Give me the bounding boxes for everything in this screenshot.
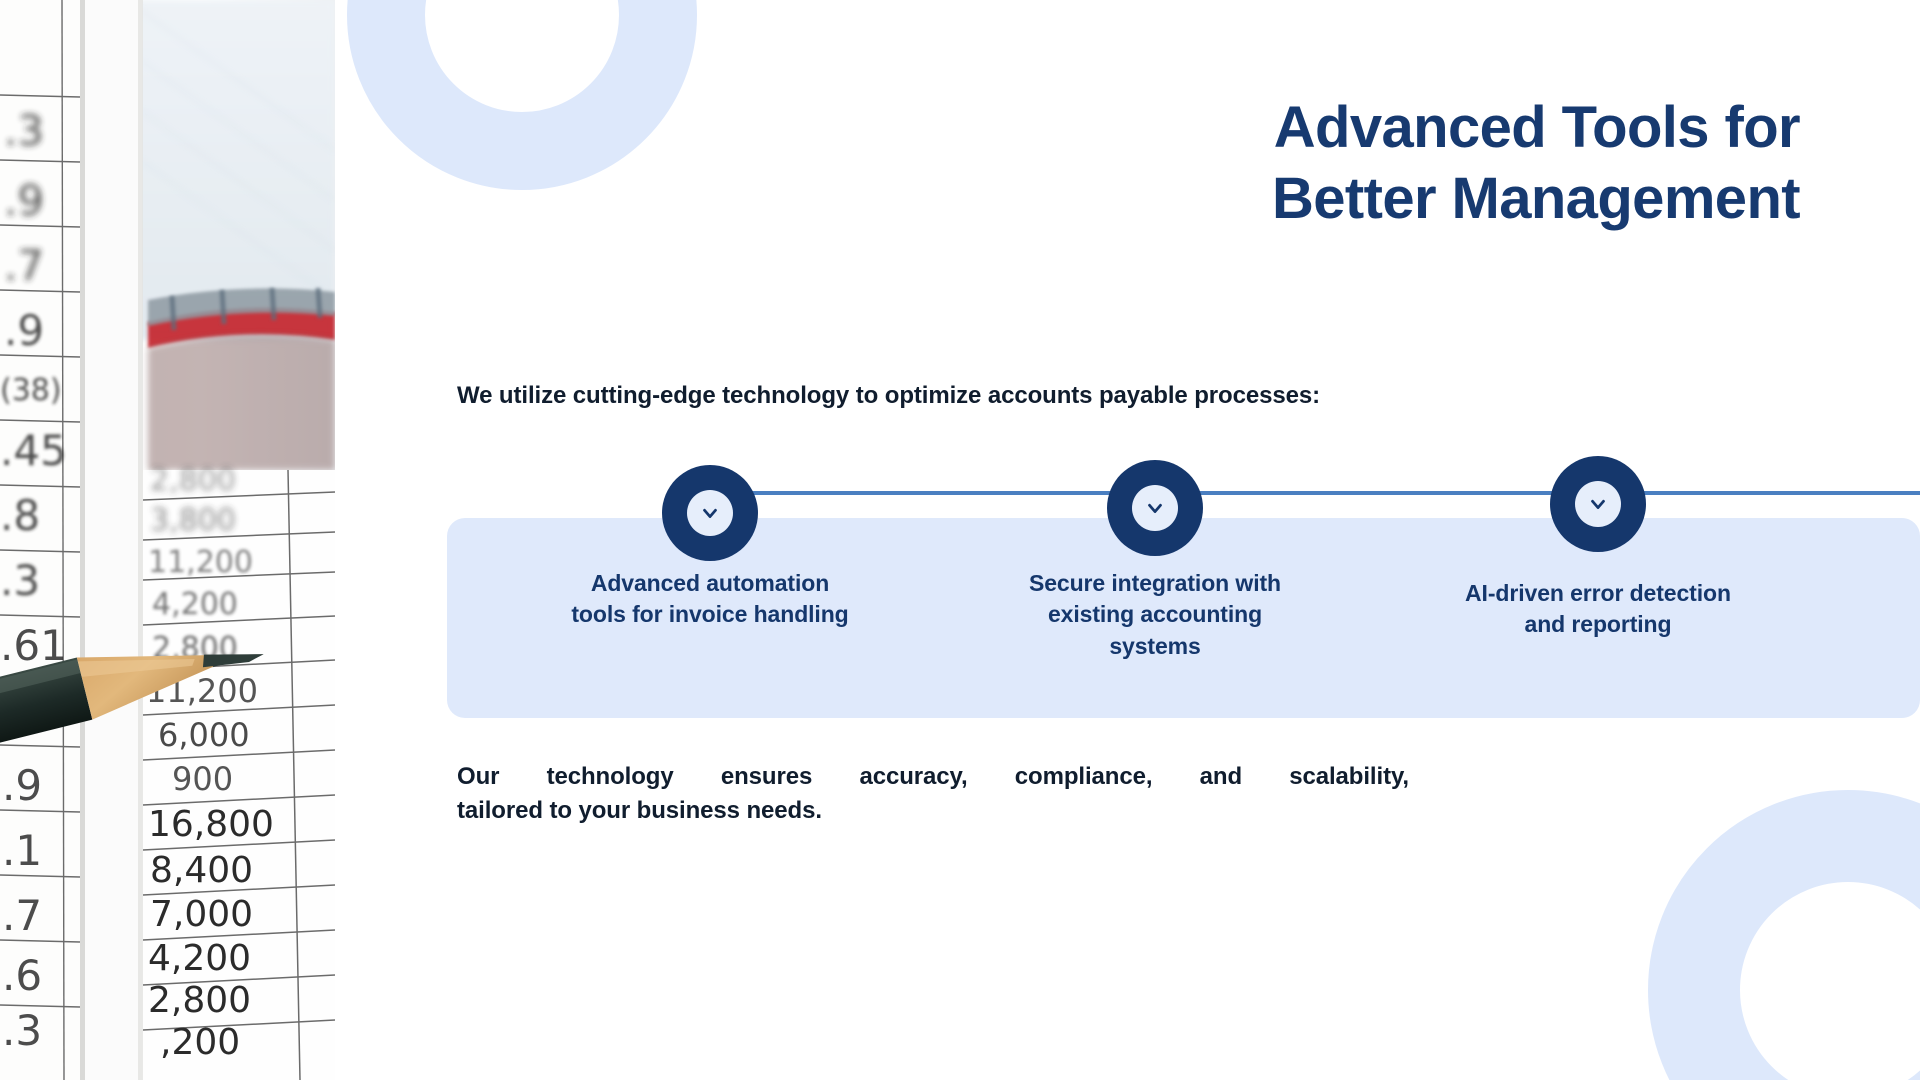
decorative-ring-bottom: [1648, 790, 1920, 1080]
svg-text:16,800: 16,800: [148, 804, 274, 845]
svg-text:2,800: 2,800: [150, 463, 236, 498]
page-title-line-2: Better Management: [1040, 163, 1800, 234]
svg-text:.9: .9: [4, 176, 44, 225]
chevron-down-icon: [687, 490, 733, 536]
svg-text:.9: .9: [2, 761, 42, 810]
timeline-marker-2[interactable]: [1107, 460, 1203, 556]
outro-line-2: tailored to your business needs.: [457, 794, 1409, 828]
timeline-step-label-1: Advanced automation tools for invoice ha…: [570, 568, 850, 631]
timeline-step-label-3: AI-driven error detection and reporting: [1462, 578, 1734, 641]
decorative-ring-top: [347, 0, 697, 190]
chevron-down-icon: [1132, 485, 1178, 531]
timeline-marker-3[interactable]: [1550, 456, 1646, 552]
svg-text:900: 900: [172, 760, 233, 798]
svg-text:7,000: 7,000: [150, 894, 253, 935]
svg-text:.3: .3: [0, 556, 40, 605]
svg-text:3,800: 3,800: [150, 503, 236, 538]
svg-text:.1: .1: [2, 826, 42, 875]
svg-text:,200: ,200: [160, 1022, 240, 1063]
chevron-down-icon: [1575, 481, 1621, 527]
svg-text:2,800: 2,800: [148, 980, 251, 1021]
intro-text: We utilize cutting-edge technology to op…: [457, 382, 1320, 410]
slide-root: .3 .9 .7 .9 (38) .45 .8 .3 .61 .8 .9 .1 …: [0, 0, 1920, 1080]
timeline-step-label-2: Secure integration with existing account…: [1015, 568, 1295, 662]
svg-text:.6: .6: [2, 951, 42, 1000]
page-title: Advanced Tools for Better Management: [1040, 92, 1800, 235]
svg-text:6,000: 6,000: [158, 716, 250, 754]
page-title-line-1: Advanced Tools for: [1040, 92, 1800, 163]
outro-text: Our technology ensures accuracy, complia…: [457, 760, 1409, 828]
svg-text:4,200: 4,200: [148, 938, 251, 979]
photo-illustration: .3 .9 .7 .9 (38) .45 .8 .3 .61 .8 .9 .1 …: [0, 0, 335, 1080]
svg-text:8,400: 8,400: [150, 850, 253, 891]
outro-line-1: Our technology ensures accuracy, complia…: [457, 760, 1409, 794]
svg-text:.9: .9: [4, 306, 44, 355]
svg-text:(38): (38): [0, 373, 62, 408]
svg-text:.45: .45: [0, 426, 67, 475]
svg-text:4,200: 4,200: [152, 587, 238, 622]
svg-text:.7: .7: [2, 891, 42, 940]
svg-text:.3: .3: [4, 106, 44, 155]
svg-text:.8: .8: [0, 491, 40, 540]
svg-text:11,200: 11,200: [148, 545, 253, 580]
timeline-connector-line: [710, 491, 1920, 495]
spreadsheet-pencil-photo: .3 .9 .7 .9 (38) .45 .8 .3 .61 .8 .9 .1 …: [0, 0, 335, 1080]
timeline-marker-1[interactable]: [662, 465, 758, 561]
svg-text:.3: .3: [2, 1006, 42, 1055]
svg-text:.7: .7: [4, 241, 44, 290]
